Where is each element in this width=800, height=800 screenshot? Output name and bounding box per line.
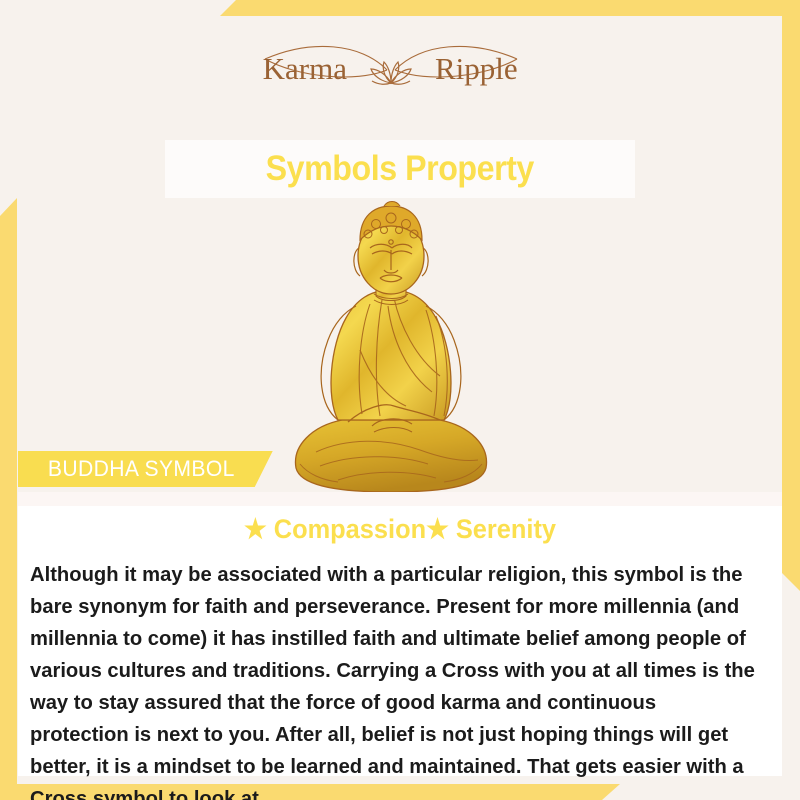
infographic-page: Karma Ripple Symbols Property	[0, 0, 800, 800]
content-paragraph: Although it may be associated with a par…	[30, 559, 759, 800]
section-ribbon: BUDDHA SYMBOL	[18, 451, 273, 487]
brand-name-left: Karma	[263, 51, 348, 86]
frame-bar-right	[782, 16, 800, 591]
brand-name-right: Ripple	[435, 51, 518, 86]
page-title: Symbols Property	[266, 149, 534, 189]
brand-logo-svg: Karma Ripple	[251, 37, 531, 107]
title-banner: Symbols Property	[165, 140, 635, 198]
content-card: ★ Compassion★ Serenity Although it may b…	[18, 492, 782, 776]
frame-bar-top	[220, 0, 800, 16]
content-subtitle: ★ Compassion★ Serenity	[41, 514, 759, 545]
card-top-tint	[18, 492, 782, 506]
brand-logo: Karma Ripple	[0, 36, 782, 108]
seated-buddha-statue-icon	[276, 200, 506, 496]
section-ribbon-label: BUDDHA SYMBOL	[48, 456, 235, 482]
